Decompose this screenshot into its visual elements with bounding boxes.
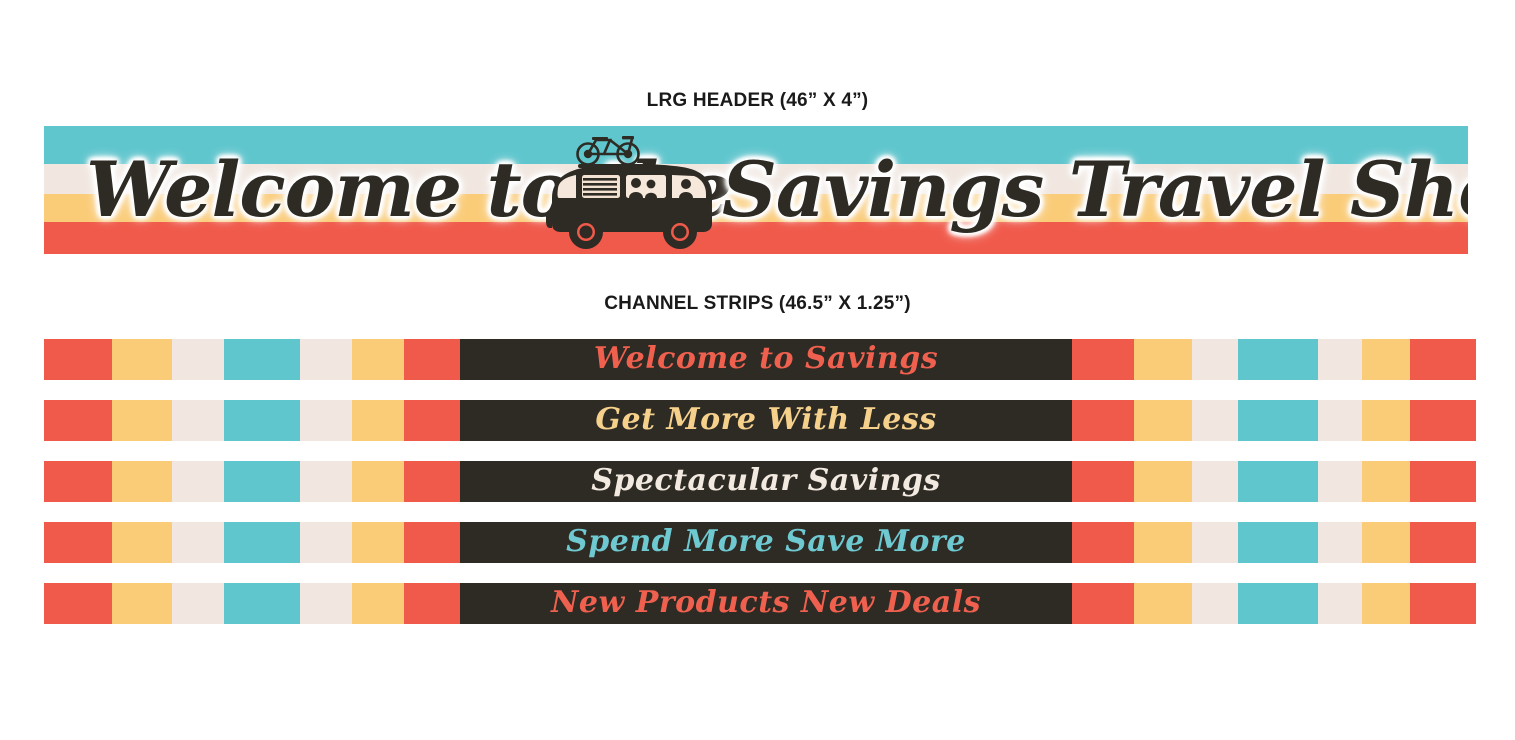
strip-block [1192,583,1238,624]
strip-block [352,400,404,441]
strip-block [1072,339,1134,380]
strip-block [1362,339,1410,380]
strip-block [404,461,460,502]
strip-text: Welcome to Savings [594,344,938,374]
strip-block [172,461,224,502]
strip-block [224,400,300,441]
strip-block [1362,522,1410,563]
strip-block [224,583,300,624]
strip-block [1318,522,1362,563]
strip-block [1134,400,1192,441]
strip-block [1238,339,1318,380]
strip-block [300,583,352,624]
strip-block [404,522,460,563]
strip-block [1192,400,1238,441]
strip-text-panel: Get More With Less [460,400,1072,441]
strip-block [112,400,172,441]
strip-block [1238,583,1318,624]
strip-block [1410,583,1476,624]
strip-block [1318,339,1362,380]
strip-block [1238,400,1318,441]
strip-block [1410,400,1476,441]
strip-text: New Products New Deals [551,588,981,618]
strip-block [1410,339,1476,380]
large-header-caption: LRG HEADER (46” X 4”) [0,90,1515,112]
strip-block [1072,400,1134,441]
strip-block [44,522,112,563]
strip-block [300,522,352,563]
strip-block [352,583,404,624]
strip-block [1192,522,1238,563]
strip-block [112,583,172,624]
strip-block [112,461,172,502]
strip-text-panel: Spectacular Savings [460,461,1072,502]
strip-block [300,400,352,441]
channel-strip: Spend More Save More [44,522,1476,563]
channel-strip: Get More With Less [44,400,1476,441]
strip-text: Spend More Save More [566,527,966,557]
strip-block [1318,400,1362,441]
strip-block [1134,461,1192,502]
camper-van-with-bike-icon [536,132,726,254]
strip-block [44,461,112,502]
strip-text: Spectacular Savings [591,466,941,496]
strip-block [1134,583,1192,624]
strip-block [300,339,352,380]
strip-block [1362,583,1410,624]
strip-block [44,400,112,441]
strip-block [404,400,460,441]
strip-text-panel: New Products New Deals [460,583,1072,624]
strip-block [404,583,460,624]
channel-strip: New Products New Deals [44,583,1476,624]
channel-strips-caption: CHANNEL STRIPS (46.5” X 1.25”) [0,293,1515,315]
strip-block [44,583,112,624]
strip-block [224,522,300,563]
strip-block [1192,339,1238,380]
strip-block [352,339,404,380]
header-headline-right: Savings Travel Shoppe [722,126,1468,254]
strip-block [172,400,224,441]
strip-block [1072,583,1134,624]
strip-block [352,461,404,502]
strip-block [404,339,460,380]
large-header-banner: Welcome to the [44,126,1468,254]
strip-block [224,461,300,502]
strip-block [1134,339,1192,380]
strip-block [1238,461,1318,502]
strip-block [1072,461,1134,502]
strip-block [172,339,224,380]
strip-block [1072,522,1134,563]
channel-strip: Welcome to Savings [44,339,1476,380]
strip-block [1410,461,1476,502]
strip-block [172,522,224,563]
strip-block [300,461,352,502]
strip-block [1410,522,1476,563]
strip-block [1318,583,1362,624]
strip-text-panel: Spend More Save More [460,522,1072,563]
strip-block [172,583,224,624]
strip-block [1134,522,1192,563]
strip-block [112,339,172,380]
strip-block [1192,461,1238,502]
strip-text: Get More With Less [595,405,936,435]
strip-block [112,522,172,563]
strip-block [352,522,404,563]
strip-block [1362,400,1410,441]
strip-block [224,339,300,380]
strip-block [1362,461,1410,502]
strip-text-panel: Welcome to Savings [460,339,1072,380]
channel-strip: Spectacular Savings [44,461,1476,502]
strip-block [1318,461,1362,502]
strip-block [1238,522,1318,563]
strip-block [44,339,112,380]
